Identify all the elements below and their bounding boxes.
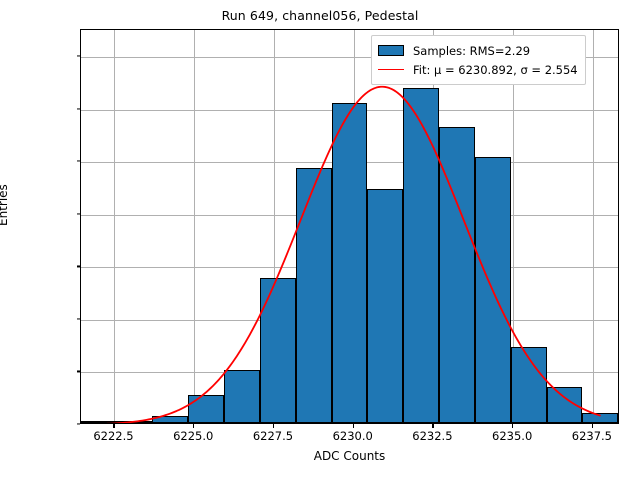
gaussian-fit-curve [81,30,618,423]
x-axis-label: ADC Counts [80,449,619,463]
x-axis-tick-label: 6227.5 [253,429,293,443]
x-axis-tick-label: 6237.5 [572,429,612,443]
x-axis-tick-mark [432,424,433,428]
x-axis-tick-mark [273,424,274,428]
legend-label-samples: Samples: RMS=2.29 [413,44,530,58]
x-axis-tick-label: 6222.5 [93,429,133,443]
x-axis-tick-mark [592,424,593,428]
x-axis-tick-label: 6230.0 [333,429,373,443]
chart-title: Run 649, channel056, Pedestal [0,8,640,23]
figure-canvas: Run 649, channel056, Pedestal Entries AD… [0,0,640,480]
y-axis-label: Entries [0,184,10,226]
x-axis-tick-mark [512,424,513,428]
plot-area [80,29,619,424]
legend-item-samples: Samples: RMS=2.29 [378,41,578,60]
x-axis-tick-mark [113,424,114,428]
x-axis-tick-mark [193,424,194,428]
legend-line-swatch-icon [378,69,404,70]
x-axis-tick-mark [353,424,354,428]
fit-curve-path [84,87,600,424]
legend-label-fit: Fit: μ = 6230.892, σ = 2.554 [413,63,578,77]
legend-item-fit: Fit: μ = 6230.892, σ = 2.554 [378,60,578,79]
legend: Samples: RMS=2.29 Fit: μ = 6230.892, σ =… [371,35,586,85]
legend-patch-swatch-icon [378,45,404,56]
x-axis-tick-label: 6235.0 [492,429,532,443]
x-axis-tick-label: 6232.5 [412,429,452,443]
x-axis-tick-label: 6225.0 [173,429,213,443]
